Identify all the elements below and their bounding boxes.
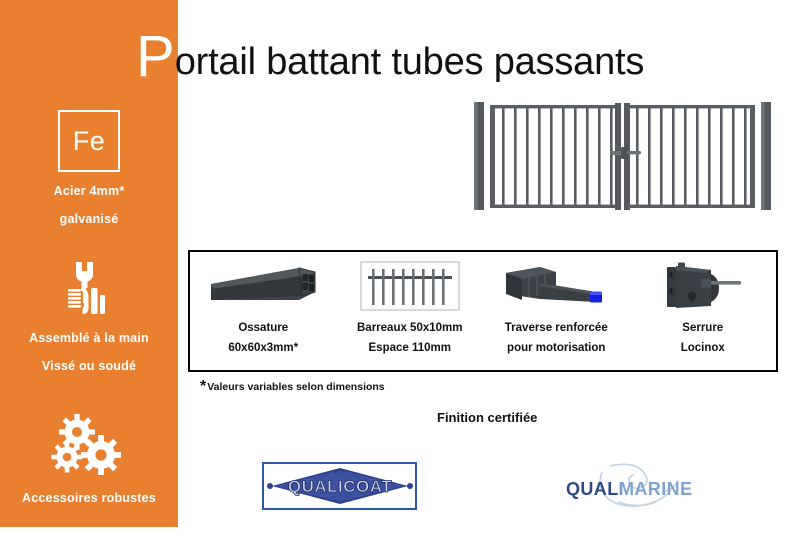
qualimarine-logo: QUALI MARINE [562, 462, 712, 510]
page-title: Portail battant tubes passants [136, 26, 644, 86]
sidebar-item-accessoires: Accessoires robustes [0, 413, 178, 507]
fe-element-box-icon: Fe [58, 110, 120, 172]
feature-traverse-line-2: pour motorisation [505, 338, 608, 358]
feature-barreaux-line-2: Espace 110mm [357, 338, 463, 358]
feature-serrure-line-1: Serrure [681, 318, 725, 338]
feature-item-traverse: Traverse renforcée pour motorisation [483, 252, 630, 370]
sidebar-item-acier-label-1: Acier 4mm* [0, 182, 178, 200]
feature-serrure-line-2: Locinox [681, 338, 725, 358]
page-title-initial: P [136, 28, 175, 86]
frame-profile-icon [207, 260, 319, 312]
hand-wrench-icon [58, 258, 120, 320]
lock-icon [659, 260, 747, 312]
page-title-remainder: ortail battant tubes passants [175, 43, 645, 81]
sidebar-item-acier-label-2: galvanisé [0, 210, 178, 228]
fe-badge-text: Fe [73, 128, 106, 155]
feature-item-barreaux: Barreaux 50x10mm Espace 110mm [337, 252, 484, 370]
gate-illustration [470, 96, 775, 221]
sidebar-item-assemblage-label-1: Assemblé à la main [0, 329, 178, 347]
sidebar-item-accessoires-label-1: Accessoires robustes [0, 489, 178, 507]
features-panel: Ossature 60x60x3mm* [188, 250, 778, 372]
gears-icon [43, 413, 135, 479]
bars-fence-icon [360, 260, 460, 312]
feature-barreaux-line-1: Barreaux 50x10mm [357, 318, 463, 338]
sidebar-item-acier: Fe Acier 4mm* galvanisé [0, 110, 178, 228]
sidebar-item-assemblage: Assemblé à la main Vissé ou soudé [0, 258, 178, 375]
feature-ossature-line-1: Ossature [228, 318, 298, 338]
footnote: *Valeurs variables selon dimensions [200, 378, 385, 396]
qualimarine-wordmark-secondary: MARINE [619, 479, 692, 499]
sidebar-item-assemblage-label-2: Vissé ou soudé [0, 357, 178, 375]
qualicoat-logo: QUALICOAT [262, 462, 417, 510]
feature-item-ossature: Ossature 60x60x3mm* [190, 252, 337, 370]
feature-traverse-line-1: Traverse renforcée [505, 318, 608, 338]
qualicoat-wordmark: QUALICOAT [287, 477, 391, 496]
feature-ossature-line-2: 60x60x3mm* [228, 338, 298, 358]
footnote-text: Valeurs variables selon dimensions [207, 381, 384, 393]
reinforced-crossbeam-icon [500, 260, 612, 312]
footnote-asterisk: * [200, 378, 206, 395]
certification-heading: Finition certifiée [437, 410, 537, 425]
qualimarine-wordmark-primary: QUALI [566, 479, 624, 499]
feature-item-serrure: Serrure Locinox [630, 252, 777, 370]
